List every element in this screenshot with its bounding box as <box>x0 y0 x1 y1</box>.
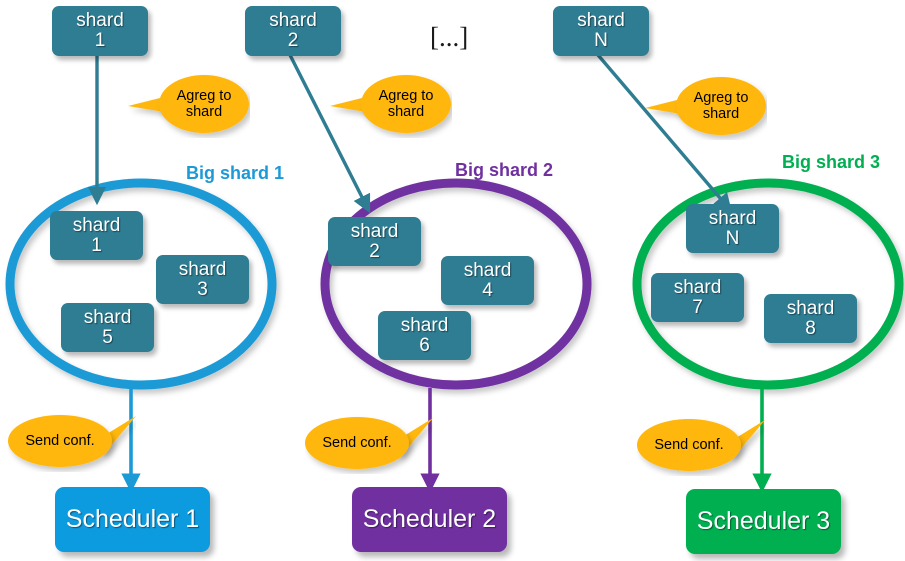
shard-box-line1: shard <box>464 261 512 281</box>
big-shard-2-label: Big shard 2 <box>455 160 553 181</box>
shard-box-line1: shard <box>709 209 757 229</box>
big-shard-2-shard-4[interactable]: shard 4 <box>441 256 534 305</box>
shard-box-line1: shard <box>73 216 121 236</box>
scheduler-label: Scheduler 3 <box>697 507 830 536</box>
big-shard-1-label: Big shard 1 <box>186 163 284 184</box>
big-shard-1-shard-5[interactable]: shard 5 <box>61 303 154 352</box>
diagram-canvas: shard 1 shard 2 shard N [...] Agreg to s… <box>0 0 905 561</box>
send-conf-callout-2[interactable]: Send conf. <box>305 412 433 474</box>
agreg-callout-3[interactable]: Agreg to shard <box>645 72 767 140</box>
callout-bubble-shape <box>330 70 452 138</box>
send-conf-callout-3[interactable]: Send conf. <box>637 414 765 476</box>
shard-box-line2: 3 <box>197 280 208 300</box>
shard-box-line2: 7 <box>692 298 703 318</box>
shard-box-line1: shard <box>84 308 132 328</box>
shard-box-line2: N <box>594 31 608 51</box>
shard-box-line2: 2 <box>288 31 299 51</box>
shard-box-line2: 2 <box>369 242 380 262</box>
scheduler-label: Scheduler 1 <box>66 505 199 534</box>
shard-box-top-1[interactable]: shard 1 <box>52 6 148 56</box>
big-shard-3-label: Big shard 3 <box>782 152 880 173</box>
big-shard-1-shard-1[interactable]: shard 1 <box>50 211 143 260</box>
callout-bubble-shape <box>128 70 250 138</box>
scheduler-2-box[interactable]: Scheduler 2 <box>352 487 507 552</box>
shard-box-line1: shard <box>401 316 449 336</box>
send-conf-callout-1[interactable]: Send conf. <box>8 410 136 472</box>
shard-box-line1: shard <box>179 260 227 280</box>
shard-box-line2: 1 <box>95 31 106 51</box>
shard-box-line1: shard <box>76 11 124 31</box>
shard-box-line2: 5 <box>102 328 113 348</box>
big-shard-3-shard-7[interactable]: shard 7 <box>651 273 744 322</box>
big-shard-3-shard-N[interactable]: shard N <box>686 204 779 253</box>
big-shard-2-shard-6[interactable]: shard 6 <box>378 311 471 360</box>
agreg-callout-1[interactable]: Agreg to shard <box>128 70 250 138</box>
callout-bubble-shape <box>637 414 765 476</box>
shard-box-line2: 4 <box>482 281 493 301</box>
callout-bubble-shape <box>305 412 433 474</box>
scheduler-3-box[interactable]: Scheduler 3 <box>686 489 841 554</box>
scheduler-1-box[interactable]: Scheduler 1 <box>55 487 210 552</box>
callout-bubble-shape <box>8 410 136 472</box>
shard-box-line2: 1 <box>91 236 102 256</box>
callout-bubble-shape <box>645 72 767 140</box>
agreg-callout-2[interactable]: Agreg to shard <box>330 70 452 138</box>
big-shard-2-shard-2[interactable]: shard 2 <box>328 217 421 266</box>
shard-box-line1: shard <box>269 11 317 31</box>
shard-box-line2: 8 <box>805 319 816 339</box>
shard-box-line2: 6 <box>419 336 430 356</box>
shard-box-line1: shard <box>674 278 722 298</box>
scheduler-label: Scheduler 2 <box>363 505 496 534</box>
shard-box-line1: shard <box>351 222 399 242</box>
shard-box-line1: shard <box>577 11 625 31</box>
shard-box-line2: N <box>726 229 740 249</box>
big-shard-3-shard-8[interactable]: shard 8 <box>764 294 857 343</box>
shard-box-top-2[interactable]: shard 2 <box>245 6 341 56</box>
shard-box-line1: shard <box>787 299 835 319</box>
shard-box-top-N[interactable]: shard N <box>553 6 649 56</box>
ellipsis-label: [...] <box>430 22 468 53</box>
big-shard-1-shard-3[interactable]: shard 3 <box>156 255 249 304</box>
